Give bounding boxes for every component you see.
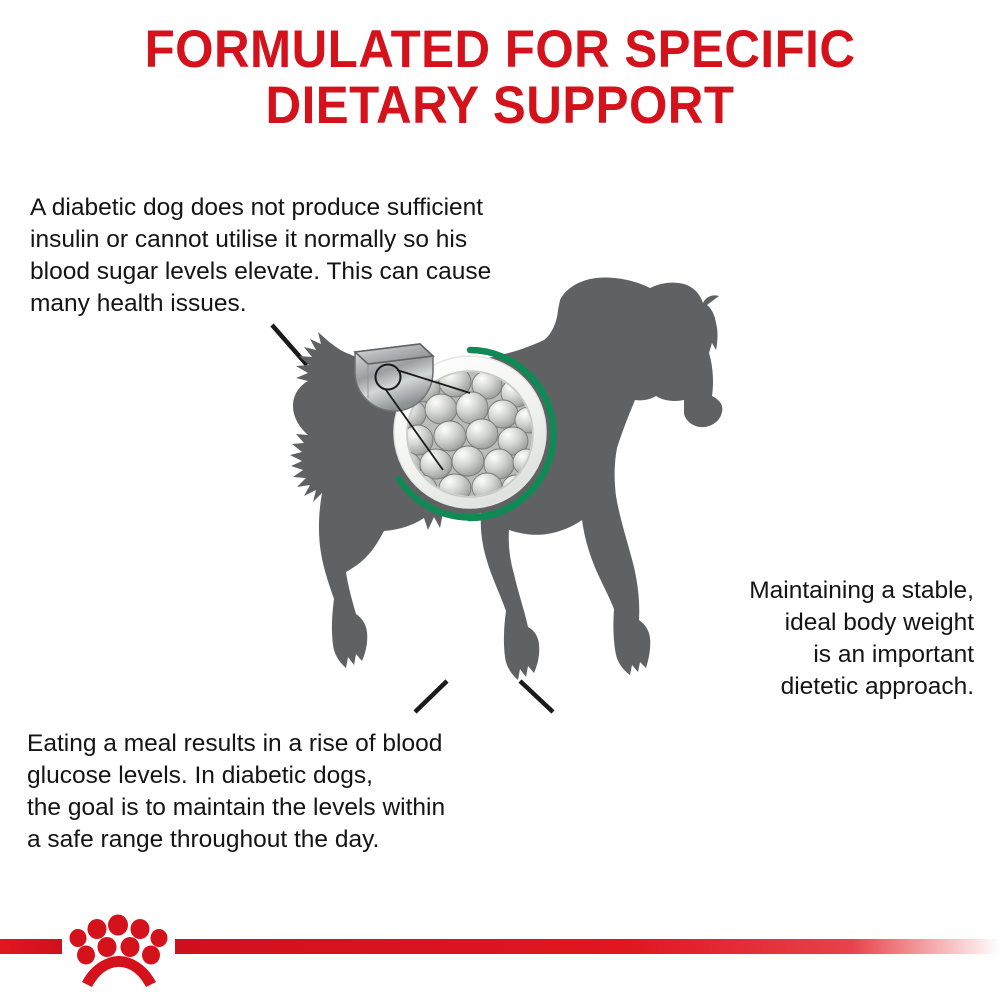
kibble-pieces [393,367,543,503]
callout-text-insulin: A diabetic dog does not produce sufficie… [30,192,550,319]
title-line-1: FORMULATED FOR SPECIFIC [35,22,965,78]
royal-canin-crown-logo [70,915,168,988]
leader-line-insulin [28,325,307,365]
footer-brand-band [0,900,1000,1000]
leader-line-glucose [28,681,447,712]
dog-silhouette [290,277,722,680]
metal-scoop [355,344,470,470]
callout-text-glucose: Eating a meal results in a rise of blood… [27,728,547,855]
footer-bar-right [175,939,1000,954]
title-line-2: DIETARY SUPPORT [35,78,965,134]
kibble-bowl [393,350,554,518]
footer-bar-left [0,939,62,954]
callout-text-weight: Maintaining a stable, ideal body weight … [674,575,974,702]
infographic-page: FORMULATED FOR SPECIFIC DIETARY SUPPORT [0,0,1000,1000]
page-title: FORMULATED FOR SPECIFIC DIETARY SUPPORT [0,22,1000,133]
